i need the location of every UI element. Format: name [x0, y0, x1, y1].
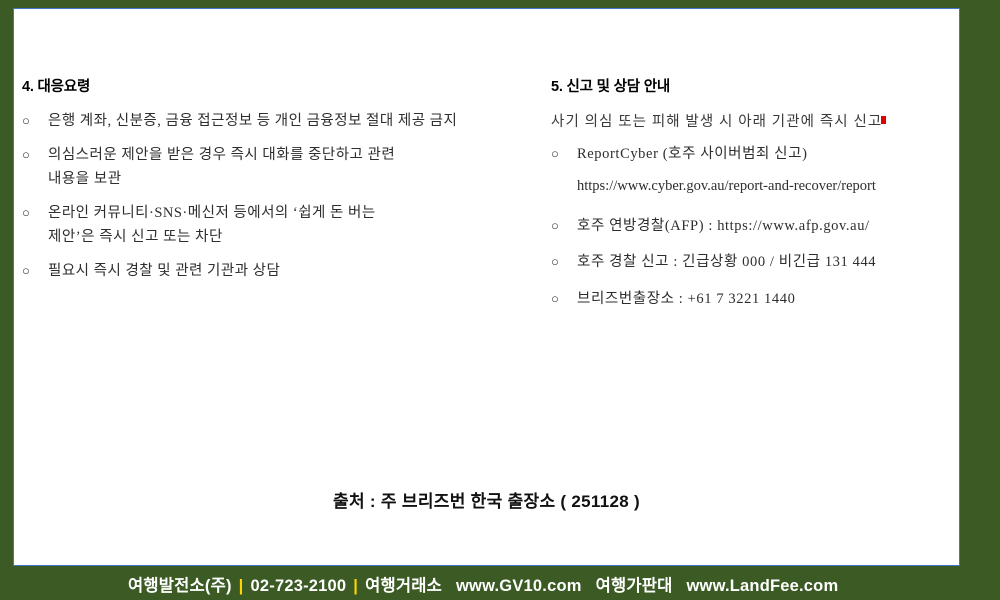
footer-bar: 여행발전소(주)|02-723-2100|여행거래소www.GV10.com여행…: [0, 567, 1000, 600]
list-item-line1: 은행 계좌, 신분증, 금융 접근정보 등 개인 금융정보 절대 제공 금지: [48, 113, 457, 129]
list-item-line1: 의심스러운 제안을 받은 경우 즉시 대화를 중단하고 관련: [48, 147, 395, 163]
right-section-title: 5. 신고 및 상담 안내: [551, 75, 960, 96]
bullet-circle-icon: ○: [22, 202, 30, 223]
left-column: 4. 대응요령 ○ 은행 계좌, 신분증, 금융 접근정보 등 개인 금융정보 …: [22, 75, 542, 295]
right-lead-label: 사기 의심 또는 피해 발생 시 아래 기관에 즉시 신고: [551, 114, 882, 130]
bullet-circle-icon: ○: [22, 260, 30, 281]
report-cyber-url[interactable]: https://www.cyber.gov.au/report-and-reco…: [577, 175, 960, 198]
bullet-circle-icon: ○: [22, 110, 30, 131]
red-ink-artifact: [881, 116, 886, 124]
list-item-line2: 제안’은 즉시 신고 또는 차단: [48, 226, 542, 249]
footer-brand2-name: 여행가판대: [596, 577, 687, 595]
list-item-line1: 브리즈번출장소 : +61 7 3221 1440: [577, 291, 795, 307]
slide-page-area: 4. 대응요령 ○ 은행 계좌, 신분증, 금융 접근정보 등 개인 금융정보 …: [13, 8, 960, 566]
list-item-line1: 필요시 즉시 경찰 및 관련 기관과 상담: [48, 263, 280, 279]
bullet-circle-icon: ○: [551, 251, 559, 272]
footer-company-name: 여행발전소(주): [128, 577, 232, 595]
left-section-title: 4. 대응요령: [22, 75, 542, 96]
list-item: ○ 필요시 즉시 경찰 및 관련 기관과 상담: [22, 260, 542, 283]
list-item: ○ 호주 경찰 신고 : 긴급상황 000 / 비긴급 131 444: [551, 251, 960, 274]
slide-canvas: 4. 대응요령 ○ 은행 계좌, 신분증, 금융 접근정보 등 개인 금융정보 …: [0, 0, 1000, 600]
list-item: ○ ReportCyber (호주 사이버범죄 신고) https://www.…: [551, 143, 960, 199]
list-item: ○ 온라인 커뮤니티·SNS·메신저 등에서의 ‘쉽게 돈 버는 제안’은 즉시…: [22, 202, 542, 249]
left-bullet-list: ○ 은행 계좌, 신분증, 금융 접근정보 등 개인 금융정보 절대 제공 금지…: [22, 110, 542, 284]
right-column: 5. 신고 및 상담 안내 사기 의심 또는 피해 발생 시 아래 기관에 즉시…: [551, 75, 960, 324]
list-item: ○ 호주 연방경찰(AFP) : https://www.afp.gov.au/: [551, 215, 960, 238]
right-bullet-list: ○ ReportCyber (호주 사이버범죄 신고) https://www.…: [551, 143, 960, 311]
footer-separator-icon: |: [232, 577, 251, 595]
bullet-circle-icon: ○: [551, 143, 559, 164]
list-item: ○ 브리즈번출장소 : +61 7 3221 1440: [551, 288, 960, 311]
right-lead-text: 사기 의심 또는 피해 발생 시 아래 기관에 즉시 신고: [551, 110, 960, 131]
list-item: ○ 은행 계좌, 신분증, 금융 접근정보 등 개인 금융정보 절대 제공 금지: [22, 110, 542, 133]
bullet-circle-icon: ○: [551, 288, 559, 309]
list-item-line1: 호주 경찰 신고 : 긴급상황 000 / 비긴급 131 444: [577, 254, 876, 270]
footer-content: 여행발전소(주)|02-723-2100|여행거래소www.GV10.com여행…: [0, 572, 838, 596]
footer-phone: 02-723-2100: [251, 577, 347, 595]
footer-brand1-name: 여행거래소: [365, 577, 456, 595]
footer-brand1-site[interactable]: www.GV10.com: [456, 577, 596, 595]
list-item-line2: 내용을 보관: [48, 168, 542, 191]
list-item-line1: 호주 연방경찰(AFP) : https://www.afp.gov.au/: [577, 218, 870, 234]
bullet-circle-icon: ○: [22, 144, 30, 165]
footer-separator-icon: |: [346, 577, 365, 595]
list-item-line1: 온라인 커뮤니티·SNS·메신저 등에서의 ‘쉽게 돈 버는: [48, 205, 376, 221]
bullet-circle-icon: ○: [551, 215, 559, 236]
list-item: ○ 의심스러운 제안을 받은 경우 즉시 대화를 중단하고 관련 내용을 보관: [22, 144, 542, 191]
footer-brand2-site[interactable]: www.LandFee.com: [687, 577, 839, 595]
list-item-line1: ReportCyber (호주 사이버범죄 신고): [577, 146, 808, 162]
source-line: 출처 : 주 브리즈번 한국 출장소 ( 251128 ): [14, 487, 959, 512]
